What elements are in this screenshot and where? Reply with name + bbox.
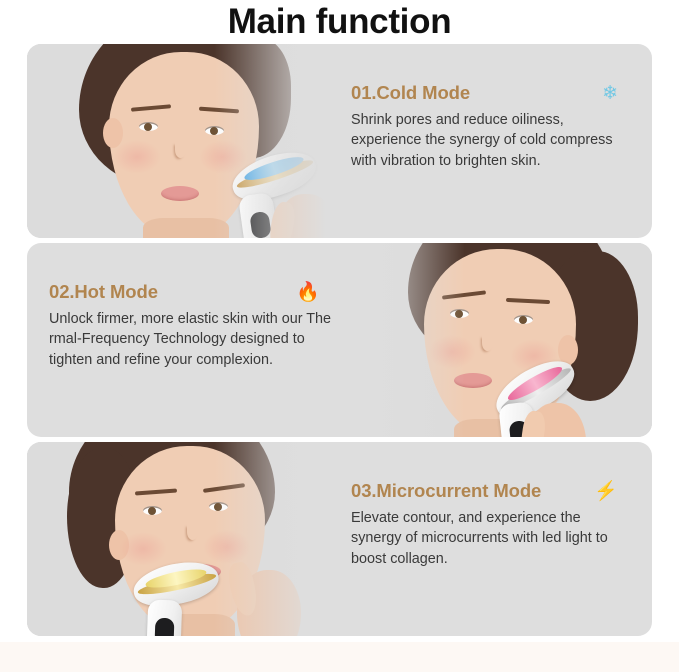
feature-card-microcurrent-mode: 03.Microcurrent Mode ⚡ Elevate contour, … xyxy=(27,442,652,636)
flame-icon: 🔥 xyxy=(296,283,320,302)
feature-card-list: 01.Cold Mode ❄ Shrink pores and reduce o… xyxy=(0,44,679,636)
page-bottom-band xyxy=(0,642,679,672)
snowflake-icon: ❄ xyxy=(602,84,618,103)
card-description-microcurrent-mode: Elevate contour, and experience the syne… xyxy=(351,508,632,569)
card-text-microcurrent-mode: 03.Microcurrent Mode ⚡ Elevate contour, … xyxy=(329,442,652,636)
card-image-hot-mode xyxy=(350,243,652,437)
card-description-hot-mode: Unlock firmer, more elastic skin with ou… xyxy=(49,309,334,370)
card-title-cold-mode: 01.Cold Mode xyxy=(351,82,470,104)
card-title-microcurrent-mode: 03.Microcurrent Mode xyxy=(351,480,541,502)
card-image-cold-mode xyxy=(27,44,329,238)
card-title-hot-mode: 02.Hot Mode xyxy=(49,281,158,303)
card-text-cold-mode: 01.Cold Mode ❄ Shrink pores and reduce o… xyxy=(329,44,652,238)
feature-card-hot-mode: 02.Hot Mode 🔥 Unlock firmer, more elasti… xyxy=(27,243,652,437)
feature-card-cold-mode: 01.Cold Mode ❄ Shrink pores and reduce o… xyxy=(27,44,652,238)
card-description-cold-mode: Shrink pores and reduce oiliness, experi… xyxy=(351,110,632,171)
card-text-hot-mode: 02.Hot Mode 🔥 Unlock firmer, more elasti… xyxy=(27,243,350,437)
lightning-bolt-icon: ⚡ xyxy=(594,482,618,501)
card-image-microcurrent-mode xyxy=(27,442,329,636)
page-title: Main function xyxy=(0,0,679,44)
